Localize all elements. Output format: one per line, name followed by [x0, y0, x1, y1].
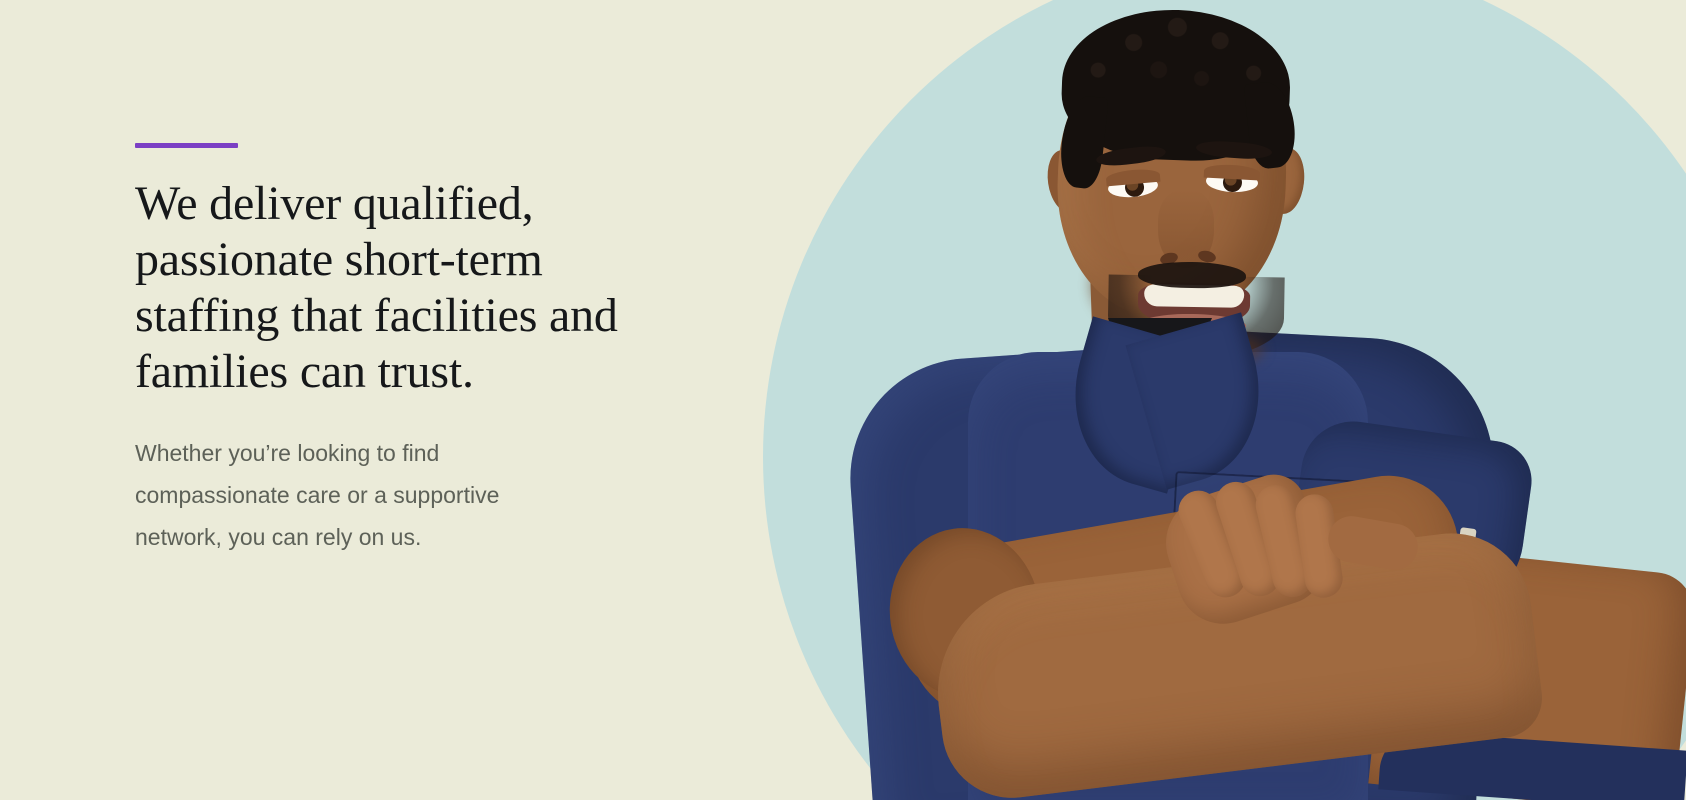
hero-banner: We deliver qualified, passionate short-t…: [0, 0, 1686, 800]
hero-copy: We deliver qualified, passionate short-t…: [135, 0, 695, 800]
healthcare-worker-portrait: [740, 0, 1686, 800]
hero-media: [740, 0, 1686, 800]
hero-subcopy: Whether you’re looking to find compassio…: [135, 432, 515, 558]
accent-rule: [135, 143, 238, 148]
page-title: We deliver qualified, passionate short-t…: [135, 176, 675, 400]
